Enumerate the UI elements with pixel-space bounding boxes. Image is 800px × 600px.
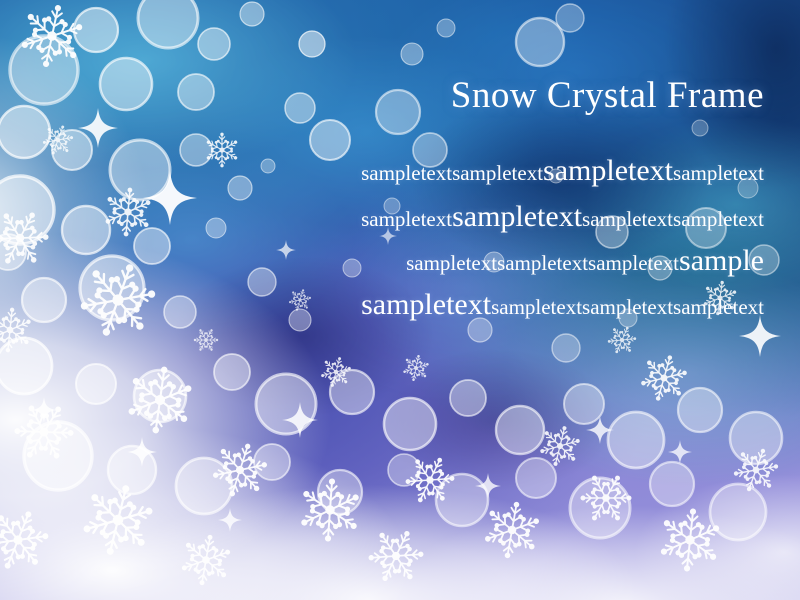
bokeh-circle (74, 8, 118, 52)
bokeh-rim (180, 134, 212, 166)
bokeh-rim (401, 43, 423, 65)
bokeh-rim (516, 458, 556, 498)
bokeh-circle (496, 406, 544, 454)
bokeh-circle (650, 462, 694, 506)
bokeh-circle (214, 354, 250, 390)
bokeh-circle (10, 36, 78, 104)
snowflake (728, 442, 784, 498)
sparkle-star (143, 171, 197, 225)
snowflake (0, 501, 57, 578)
snowflake (572, 464, 640, 532)
bokeh-circle (180, 134, 212, 166)
bokeh-rim (108, 446, 156, 494)
bokeh-circle (730, 412, 782, 464)
bokeh-rim (608, 412, 664, 468)
snowflake (123, 363, 197, 437)
bokeh-circle (134, 370, 186, 422)
bokeh-circle (436, 474, 488, 526)
bokeh-rim (10, 36, 78, 104)
bokeh-circle (22, 278, 66, 322)
sample-segment: sampletextsampletext (582, 207, 764, 231)
sample-segment: sampletext (543, 154, 673, 187)
bokeh-circle (80, 256, 144, 320)
bokeh-rim (384, 398, 436, 450)
snowflake (656, 506, 724, 573)
snowflake (636, 350, 692, 406)
bokeh-rim (299, 31, 325, 57)
bokeh-circle (108, 446, 156, 494)
bokeh-rim (516, 18, 564, 66)
bokeh-rim (710, 484, 766, 540)
text-content-block: Snow Crystal Frame sampletextsampletexts… (244, 74, 764, 322)
bokeh-circle (388, 454, 420, 486)
sample-segment: sampletextsampletext (361, 161, 543, 185)
bokeh-rim (436, 474, 488, 526)
bokeh-circle (100, 58, 152, 110)
bokeh-circle (552, 334, 580, 362)
sparkle-star (282, 402, 318, 438)
bokeh-rim (564, 384, 604, 424)
sparkle-star (127, 437, 157, 467)
bokeh-circle (401, 43, 423, 65)
bokeh-rim (556, 4, 584, 32)
bokeh-rim (198, 28, 230, 60)
bokeh-circle (110, 140, 170, 200)
snowflake (0, 306, 34, 354)
sample-segment: sampletextsampletextsampletext (491, 295, 764, 319)
bokeh-circle (178, 74, 214, 110)
snowflake (206, 436, 273, 503)
bokeh-circle (52, 130, 92, 170)
bokeh-circle (0, 106, 50, 158)
bokeh-circle (678, 388, 722, 432)
sample-segment: sampletext (361, 288, 491, 321)
bokeh-rim (178, 74, 214, 110)
bokeh-circle (240, 2, 264, 26)
sample-segment: sampletextsampletextsampletext (406, 251, 679, 275)
bokeh-rim (164, 296, 196, 328)
bokeh-rim (176, 458, 232, 514)
bokeh-circle (564, 384, 604, 424)
bokeh-rim (678, 388, 722, 432)
snowflake (16, 0, 89, 72)
bokeh-rim (52, 130, 92, 170)
snowflake (604, 322, 641, 359)
bokeh-circle (437, 19, 455, 37)
bokeh-rim (74, 8, 118, 52)
snow-crystal-frame-canvas: Snow Crystal Frame sampletextsampletexts… (0, 0, 800, 600)
snowflake (190, 324, 222, 356)
bokeh-rim (134, 370, 186, 422)
bokeh-rim (256, 374, 316, 434)
bokeh-rim (0, 234, 26, 270)
bokeh-circle (134, 228, 170, 264)
bokeh-rim (0, 338, 52, 394)
bokeh-rim (450, 380, 486, 416)
bokeh-rim (0, 176, 54, 244)
bokeh-circle (76, 364, 116, 404)
snowflake (398, 448, 462, 511)
page-title: Snow Crystal Frame (244, 74, 764, 118)
bokeh-rim (496, 406, 544, 454)
bokeh-rim (437, 19, 455, 37)
sparkle-star (586, 416, 614, 444)
bokeh-circle (516, 458, 556, 498)
bokeh-circle (608, 412, 664, 468)
bokeh-rim (650, 462, 694, 506)
bokeh-circle (254, 444, 290, 480)
sparkle-star (668, 440, 692, 464)
bokeh-rim (254, 444, 290, 480)
bokeh-circle (0, 176, 54, 244)
bokeh-circle (0, 234, 26, 270)
bokeh-rim (0, 106, 50, 158)
bokeh-rim (134, 228, 170, 264)
bokeh-circle (198, 28, 230, 60)
snowflake (480, 498, 544, 562)
bokeh-circle (556, 4, 584, 32)
bokeh-rim (330, 370, 374, 414)
snowflake (177, 531, 234, 588)
sample-segment: sampletext (673, 161, 764, 185)
snowflake (318, 354, 354, 390)
sparkle-star (31, 397, 57, 423)
bokeh-rim (138, 0, 198, 48)
bokeh-rim (100, 58, 152, 110)
snowflake (71, 253, 165, 347)
sample-text-line-4: sampletextsampletextsampletextsampletext (244, 288, 764, 322)
bokeh-rim (80, 256, 144, 320)
bokeh-circle (318, 470, 362, 514)
bokeh-circle (256, 374, 316, 434)
bokeh-circle (299, 31, 325, 57)
sample-text-line-3: sampletextsampletextsampletextsample (244, 244, 764, 278)
bokeh-circle (138, 0, 198, 48)
snowflake (0, 201, 58, 276)
bokeh-rim (110, 140, 170, 200)
bokeh-rim (214, 354, 250, 390)
sparkle-star (78, 108, 118, 148)
bokeh-circle (450, 380, 486, 416)
bokeh-circle (24, 422, 92, 490)
bokeh-circle (570, 478, 630, 538)
bokeh-circle (330, 370, 374, 414)
bokeh-rim (570, 478, 630, 538)
sample-text-line-2: sampletextsampletextsampletextsampletext (244, 200, 764, 234)
snowflake (360, 520, 432, 591)
sample-segment: sample (679, 244, 764, 277)
bokeh-rim (240, 2, 264, 26)
bokeh-circle (62, 206, 110, 254)
bokeh-rim (76, 364, 116, 404)
snowflake (4, 392, 83, 471)
snowflake (297, 477, 363, 542)
bokeh-circle (384, 398, 436, 450)
bokeh-circle (176, 458, 232, 514)
bokeh-circle (710, 484, 766, 540)
bokeh-rim (22, 278, 66, 322)
bokeh-rim (318, 470, 362, 514)
bokeh-rim (388, 454, 420, 486)
snowflake (401, 353, 432, 383)
bokeh-rim (62, 206, 110, 254)
bokeh-circle (164, 296, 196, 328)
snowflake (76, 478, 160, 562)
sample-segment: sampletext (361, 207, 452, 231)
sample-segment: sampletext (452, 200, 582, 233)
bokeh-rim (24, 422, 92, 490)
sparkle-star (475, 473, 501, 499)
bokeh-rim (206, 218, 226, 238)
snowflake (536, 422, 584, 470)
bokeh-rim (730, 412, 782, 464)
sample-text-line-1: sampletextsampletextsampletextsampletext (244, 154, 764, 188)
snowflake (102, 186, 154, 237)
snowflake (39, 121, 77, 159)
bokeh-rim (552, 334, 580, 362)
bokeh-circle (206, 218, 226, 238)
sparkle-star (218, 508, 242, 532)
snowflake (205, 133, 239, 167)
bokeh-circle (516, 18, 564, 66)
bokeh-circle (0, 338, 52, 394)
